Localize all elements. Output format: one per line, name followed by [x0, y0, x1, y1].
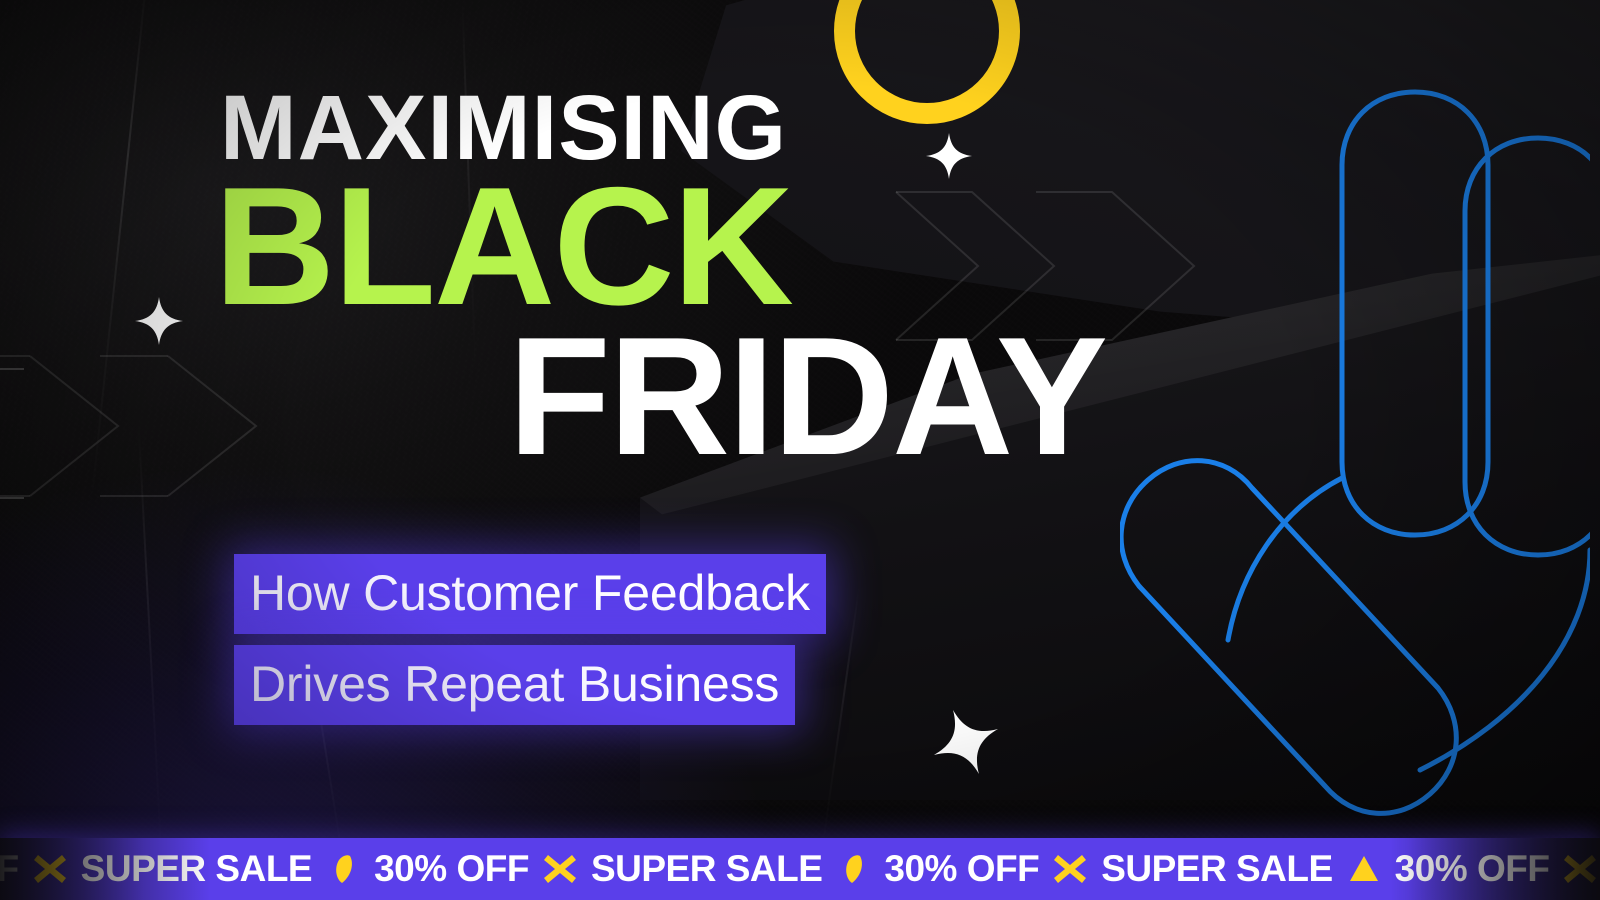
subtitle-line-2: Drives Repeat Business: [234, 645, 795, 725]
x-mark-icon: [543, 852, 577, 886]
ticker-text: 30% OFF: [1395, 848, 1550, 890]
x-mark-icon: [1053, 852, 1087, 886]
subtitle-line-1: How Customer Feedback: [234, 554, 826, 634]
ticker-separator: [326, 852, 360, 886]
ticker-text: SUPER SALE: [81, 848, 312, 890]
ticker-separator: [1347, 852, 1381, 886]
blue-hand-outline-icon: [1120, 80, 1590, 840]
headline-block: MAXIMISING BLACK FRIDAY: [214, 86, 1134, 474]
ticker-separator: [1053, 852, 1087, 886]
subtitle-block: How Customer Feedback Drives Repeat Busi…: [234, 554, 826, 725]
ticker-text: % OFF: [0, 848, 19, 890]
ticker-text: SUPER SALE: [591, 848, 822, 890]
x-mark-icon: [1563, 852, 1597, 886]
promo-ticker-bar: % OFFSUPER SALE30% OFFSUPER SALE30% OFFS…: [0, 838, 1600, 900]
headline-line-3: FRIDAY: [214, 318, 1134, 474]
ticker-text: 30% OFF: [374, 848, 529, 890]
ticker-separator: [836, 852, 870, 886]
ticker-separator: [543, 852, 577, 886]
ticker-items: % OFFSUPER SALE30% OFFSUPER SALE30% OFFS…: [0, 848, 1600, 890]
black-friday-banner: MAXIMISING BLACK FRIDAY How Customer Fee…: [0, 0, 1600, 900]
x-mark-icon: [33, 852, 67, 886]
sparkle-icon: [134, 296, 184, 346]
triangle-icon: [1347, 852, 1381, 886]
ticker-text: SUPER SALE: [1101, 848, 1332, 890]
ticker-separator: [1563, 852, 1597, 886]
crescent-icon: [836, 852, 870, 886]
dash-mark: [0, 368, 24, 370]
ticker-text: 30% OFF: [884, 848, 1039, 890]
crescent-icon: [326, 852, 360, 886]
ticker-separator: [33, 852, 67, 886]
headline-line-2: BLACK: [214, 168, 1134, 324]
dash-mark: [0, 497, 24, 499]
